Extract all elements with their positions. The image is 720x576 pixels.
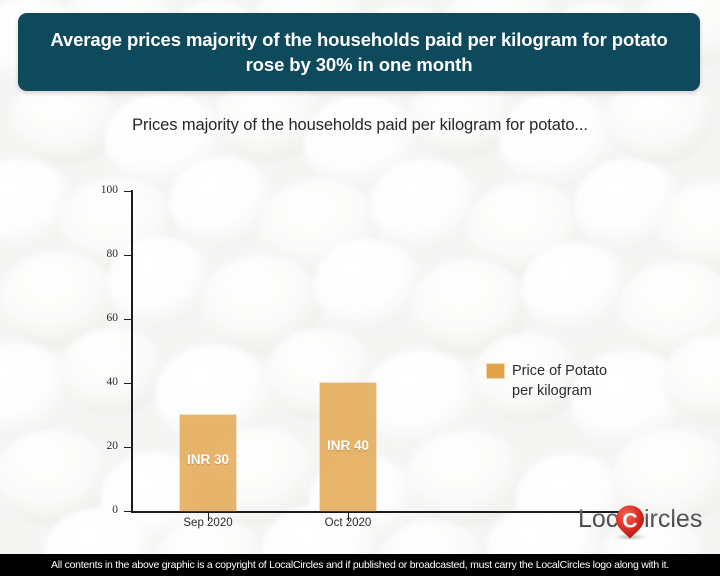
- y-axis-line: [131, 190, 133, 513]
- copyright-footer: All contents in the above graphic is a c…: [0, 554, 720, 576]
- y-axis-tick: [124, 255, 131, 256]
- y-axis-tick: [124, 319, 131, 320]
- y-axis-label-60: 60: [58, 312, 118, 324]
- legend-swatch-icon: [486, 363, 505, 379]
- y-axis-label-80: 80: [58, 248, 118, 260]
- infographic-canvas: Average prices majority of the household…: [0, 0, 720, 576]
- chart-legend[interactable]: Price of Potato per kilogram: [486, 361, 607, 401]
- localcircles-logo[interactable]: Local C ircles: [578, 500, 706, 540]
- y-axis-tick: [124, 191, 131, 192]
- legend-label-line2: per kilogram: [512, 381, 607, 401]
- bar-chart: 100 80 60 40 20 0 INR 30 INR 40 Sep 2020…: [0, 0, 720, 576]
- logo-text-ircles: ircles: [644, 505, 702, 533]
- y-axis-label-40: 40: [58, 376, 118, 388]
- y-axis-label-0: 0: [58, 504, 118, 516]
- bar-value-sep-2020: INR 30: [148, 452, 268, 467]
- y-axis-tick: [124, 511, 131, 512]
- logo-pin-letter: C: [622, 510, 637, 533]
- x-axis-line: [131, 511, 620, 513]
- y-axis-tick: [124, 447, 131, 448]
- copyright-text: All contents in the above graphic is a c…: [51, 559, 669, 571]
- y-axis-tick: [124, 383, 131, 384]
- y-axis-label-20: 20: [58, 440, 118, 452]
- y-axis-label-100: 100: [58, 184, 118, 196]
- x-axis-label-oct-2020: Oct 2020: [288, 517, 408, 529]
- legend-label-line1: Price of Potato: [512, 361, 607, 381]
- x-axis-label-sep-2020: Sep 2020: [148, 517, 268, 529]
- legend-label: Price of Potato per kilogram: [512, 361, 607, 401]
- bar-value-oct-2020: INR 40: [288, 438, 408, 453]
